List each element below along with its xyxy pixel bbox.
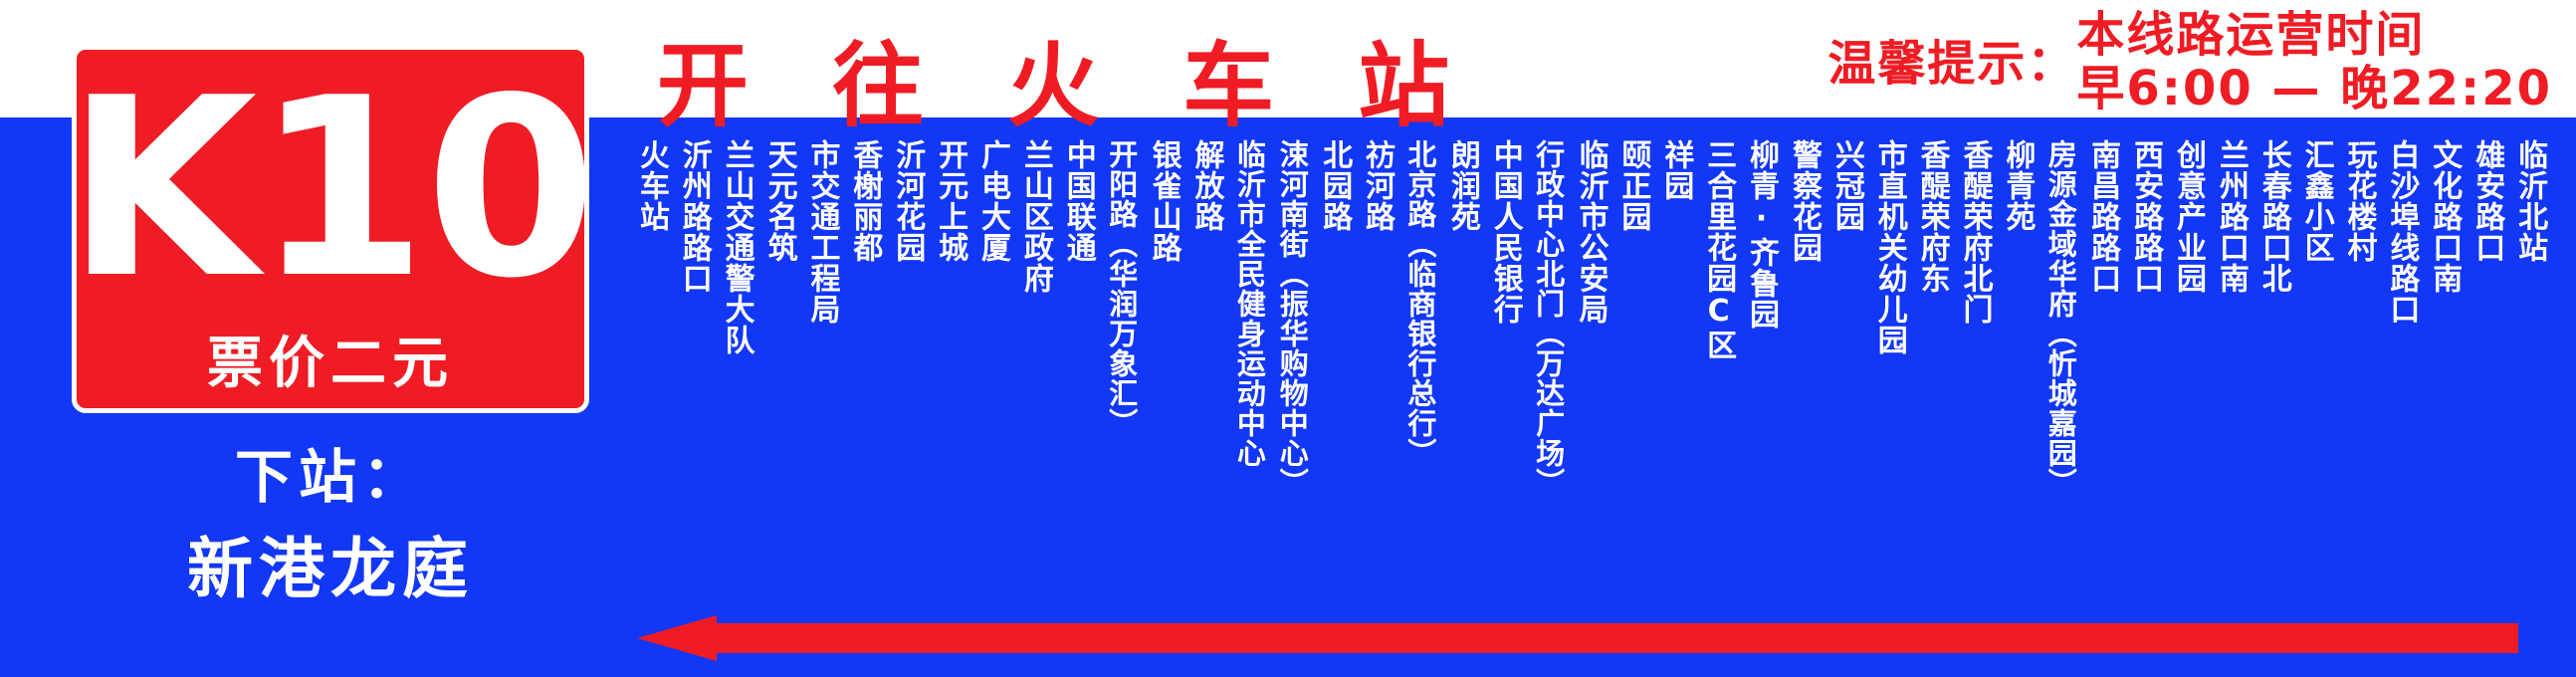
- stop-item: 临沂北站: [2507, 139, 2546, 263]
- stop-item: 雄安路口: [2465, 139, 2503, 263]
- destination-headline: 开 往 火 车 站: [657, 12, 1475, 144]
- stop-item: 南昌路路口: [2080, 139, 2119, 294]
- stop-item: 天元名筑: [757, 139, 796, 263]
- stop-item: 三合里花园C区: [1696, 139, 1735, 360]
- stop-item: 香醍荣府东: [1910, 139, 1949, 294]
- stop-item: 火车站: [629, 139, 668, 232]
- stop-item: 西安路路口: [2123, 139, 2162, 294]
- stop-item: 兴冠园: [1825, 139, 1863, 232]
- stop-item: 朗润苑: [1440, 139, 1479, 232]
- stop-item: 市直机关幼儿园: [1867, 139, 1906, 355]
- tips-label: 温馨提示：: [1827, 36, 2076, 92]
- stop-item: 临沂市全民健身运动中心: [1226, 139, 1265, 468]
- stop-item: 玩花楼村: [2337, 139, 2376, 263]
- tips-lines: 本线路运营时间 早6:00 — 晚22:20: [2076, 8, 2552, 115]
- stop-item: 汇鑫小区: [2294, 139, 2333, 263]
- stop-item: 祥园: [1653, 139, 1692, 201]
- stop-item: 白沙埠线路口: [2380, 139, 2419, 325]
- stop-item: 祊河路: [1355, 139, 1394, 232]
- stop-item: 解放路: [1184, 139, 1223, 232]
- operating-hours-notice: 温馨提示： 本线路运营时间 早6:00 — 晚22:20: [1827, 8, 2552, 115]
- stop-item: 沂州路路口: [672, 139, 711, 294]
- stop-item: 香醍荣府北门: [1953, 139, 1992, 325]
- stop-item: 警察花园: [1782, 139, 1821, 263]
- stop-list: 火车站沂州路路口兰山交通警大队天元名筑市交通工程局香榭丽都沂河花园开元上城广电大…: [627, 139, 2548, 607]
- next-stop-name: 新港龙庭: [72, 524, 589, 615]
- stop-item: 柳青苑: [1996, 139, 2035, 232]
- stop-item: 沂河花园: [885, 139, 924, 263]
- stop-item: 文化路口南: [2422, 139, 2461, 294]
- bus-route-sign: K10 票价二元 开 往 火 车 站 温馨提示： 本线路运营时间 早6:00 —…: [0, 0, 2576, 677]
- stop-item: 开阳路（华润万象汇）: [1099, 139, 1138, 438]
- tips-line-2: 早6:00 — 晚22:20: [2076, 62, 2552, 115]
- stop-item: 创意产业园: [2166, 139, 2205, 294]
- stop-item: 兰州路口南: [2209, 139, 2248, 294]
- tips-line-1: 本线路运营时间: [2076, 8, 2552, 62]
- stop-item: 行政中心北门（万达广场）: [1526, 139, 1565, 498]
- stop-item: 长春路口北: [2252, 139, 2290, 294]
- stop-item: 银雀山路: [1142, 139, 1181, 263]
- stop-item: 房源金域华府（忻城嘉园）: [2038, 139, 2076, 498]
- route-number-plate: K10 票价二元: [72, 45, 589, 413]
- route-fare: 票价二元: [207, 319, 454, 399]
- next-stop-label: 下站：: [72, 438, 589, 516]
- next-stop-block: 下站： 新港龙庭: [72, 438, 589, 615]
- stop-item: 北京路（临商银行总行）: [1397, 139, 1436, 468]
- stop-item: 中国联通: [1056, 139, 1095, 263]
- stop-item: 广电大厦: [970, 139, 1009, 263]
- stop-item: 柳青·齐鲁园: [1739, 139, 1778, 330]
- stop-item: 香榭丽都: [842, 139, 881, 263]
- direction-arrow-icon: [637, 615, 2518, 661]
- stop-item: 开元上城: [928, 139, 966, 263]
- stop-item: 颐正园: [1610, 139, 1649, 232]
- route-number: K10: [66, 56, 594, 323]
- stop-item: 临沂市公安局: [1569, 139, 1608, 325]
- stop-item: 兰山区政府: [1013, 139, 1052, 294]
- stop-item: 涑河南街（振华购物中心）: [1269, 139, 1308, 498]
- stop-item: 中国人民银行: [1483, 139, 1522, 325]
- stop-item: 兰山交通警大队: [715, 139, 753, 355]
- stop-item: 北园路: [1312, 139, 1351, 232]
- stop-item: 市交通工程局: [800, 139, 839, 325]
